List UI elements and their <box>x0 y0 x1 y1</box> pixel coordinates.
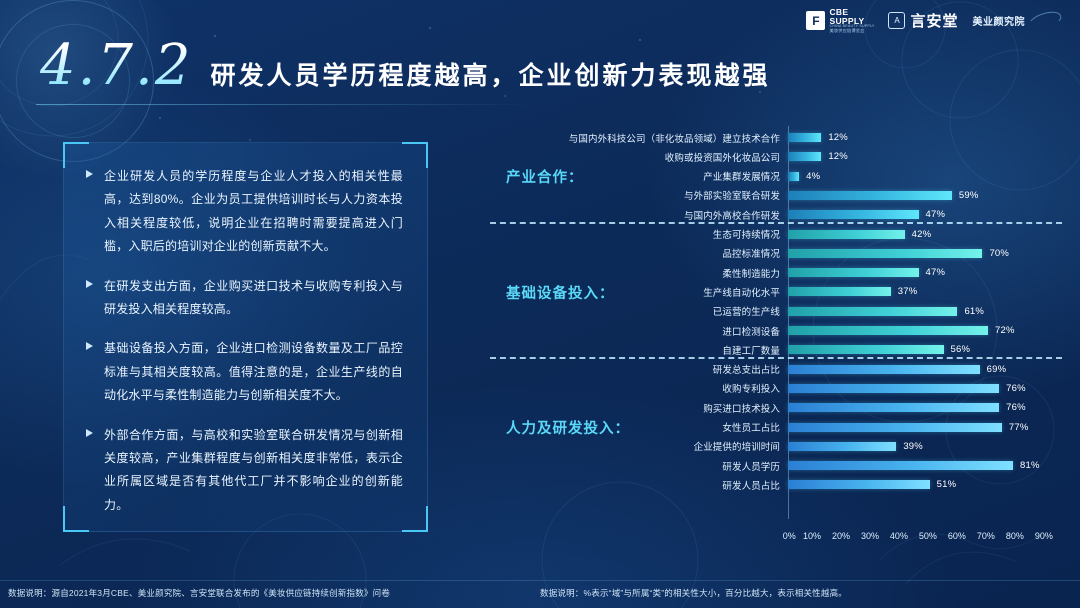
arrow-bullet-icon <box>86 170 93 178</box>
chart-bar-area: 72% <box>788 321 1070 340</box>
chart-x-axis-ticks: 0%10%20%30%40%50%60%70%80%90% <box>788 531 1070 541</box>
list-item: 外部合作方面，与高校和实验室联合研发情况与创新相关度较高，产业集群程度与创新相关… <box>86 424 403 518</box>
chart-bar <box>788 326 988 335</box>
cbe-mark-glyph: F <box>812 15 819 27</box>
chart-bar <box>788 133 821 142</box>
panel-corner-bottom-left <box>63 506 89 532</box>
meiye-institute-name: 美业颜究院 <box>973 13 1026 28</box>
arrow-bullet-icon <box>86 342 93 350</box>
chart-x-tick: 10% <box>803 531 821 541</box>
chart-bar <box>788 249 982 258</box>
chart-category-label: 品控标准情况 <box>470 246 788 260</box>
logo-yanantang: A 言安堂 <box>888 10 958 31</box>
chart-bar-value: 61% <box>964 306 984 317</box>
chart-category-label: 购买进口技术投入 <box>470 401 788 415</box>
logo-meiye-institute: 美业颜究院 <box>973 13 1063 29</box>
chart-row: 与国内外科技公司（非化妆品领域）建立技术合作12% <box>470 128 1070 147</box>
chart-bar-value: 12% <box>828 132 848 143</box>
logo-cbe-supply: F CBE SUPPLY CHINA BEAUTY SUPPLY 美妆供应链博览… <box>806 8 874 33</box>
bullet-text: 在研发支出方面，企业购买进口技术与收购专利投入与研发投入相关程度较高。 <box>104 279 403 316</box>
chart-group-label: 人力及研发投入： <box>506 417 630 438</box>
page-title: 4.7.2 研发人员学历程度越高，企业创新力表现越强 <box>40 38 771 94</box>
chart-bar <box>788 423 1002 432</box>
chart-bar-area: 12% <box>788 147 1070 166</box>
chart-category-label: 研发人员占比 <box>470 478 788 492</box>
chart-row: 柔性制造能力47% <box>470 263 1070 282</box>
chart-group-label: 产业合作： <box>506 166 584 187</box>
yanantang-mark-icon: A <box>888 12 905 29</box>
chart-bar-value: 59% <box>959 190 979 201</box>
chart-x-tick: 70% <box>977 531 995 541</box>
chart-bar-area: 39% <box>788 437 1070 456</box>
cbe-logo-line4: 美妆供应链博览会 <box>829 29 874 33</box>
bullet-text: 基础设备投入方面，企业进口检测设备数量及工厂品控标准与其相关度较高。值得注意的是… <box>104 341 403 402</box>
chart-group-label: 基础设备投入： <box>506 282 615 303</box>
correlation-bar-chart: 0%10%20%30%40%50%60%70%80%90% 与国内外科技公司（非… <box>470 126 1070 541</box>
chart-x-tick: 80% <box>1006 531 1024 541</box>
chart-category-label: 研发总支出占比 <box>470 362 788 376</box>
chart-x-tick: 0% <box>783 531 796 541</box>
chart-x-tick: 40% <box>890 531 908 541</box>
chart-category-label: 进口检测设备 <box>470 324 788 338</box>
chart-category-label: 与外部实验室联合研发 <box>470 188 788 202</box>
chart-bar-value: 77% <box>1009 422 1029 433</box>
chart-bar-value: 39% <box>903 441 923 452</box>
chart-category-label: 收购专利投入 <box>470 381 788 395</box>
chart-bar-area: 70% <box>788 244 1070 263</box>
chart-category-label: 研发人员学历 <box>470 459 788 473</box>
chart-bar-area: 47% <box>788 263 1070 282</box>
chart-row: 品控标准情况70% <box>470 244 1070 263</box>
chart-bar <box>788 345 944 354</box>
chart-category-label: 收购或投资国外化妆品公司 <box>470 150 788 164</box>
chart-bar-value: 47% <box>926 209 946 220</box>
chart-row: 收购或投资国外化妆品公司12% <box>470 147 1070 166</box>
section-number: 4.7.2 <box>40 38 193 94</box>
section-title-text: 研发人员学历程度越高，企业创新力表现越强 <box>211 64 771 89</box>
chart-bar <box>788 461 1013 470</box>
chart-row: 研发人员学历81% <box>470 456 1070 475</box>
chart-category-label: 企业提供的培训时间 <box>470 439 788 453</box>
chart-bar <box>788 210 919 219</box>
insights-panel: 企业研发人员的学历程度与企业人才投入的相关性最高，达到80%。企业为员工提供培训… <box>63 142 428 532</box>
footnote-right: 数据说明：%表示“域”与所属“类”的相关性大小，百分比越大，表示相关性越高。 <box>540 587 847 599</box>
chart-bar-area: 77% <box>788 418 1070 437</box>
chart-bar <box>788 172 799 181</box>
chart-row: 收购专利投入76% <box>470 379 1070 398</box>
chart-bar <box>788 403 999 412</box>
list-item: 在研发支出方面，企业购买进口技术与收购专利投入与研发投入相关程度较高。 <box>86 275 403 322</box>
chart-bar <box>788 152 821 161</box>
chart-bar-area: 59% <box>788 186 1070 205</box>
chart-bar-area: 61% <box>788 302 1070 321</box>
cbe-mark-icon: F <box>806 11 825 30</box>
chart-bar-value: 76% <box>1006 383 1026 394</box>
list-item: 企业研发人员的学历程度与企业人才投入的相关性最高，达到80%。企业为员工提供培训… <box>86 165 403 259</box>
chart-bar-area: 37% <box>788 282 1070 301</box>
chart-row: 进口检测设备72% <box>470 321 1070 340</box>
chart-bar-area: 42% <box>788 225 1070 244</box>
chart-bar-area: 12% <box>788 128 1070 147</box>
chart-category-label: 与国内外高校合作研发 <box>470 208 788 222</box>
chart-bar-value: 37% <box>898 286 918 297</box>
list-item: 基础设备投入方面，企业进口检测设备数量及工厂品控标准与其相关度较高。值得注意的是… <box>86 337 403 407</box>
chart-category-label: 柔性制造能力 <box>470 266 788 280</box>
chart-bar <box>788 287 891 296</box>
yanantang-mark-glyph: A <box>894 16 899 25</box>
chart-x-tick: 30% <box>861 531 879 541</box>
chart-row: 研发人员占比51% <box>470 475 1070 494</box>
chart-bar-value: 51% <box>937 479 957 490</box>
header-logos: F CBE SUPPLY CHINA BEAUTY SUPPLY 美妆供应链博览… <box>806 8 1062 33</box>
footer-divider <box>0 580 1080 581</box>
chart-bar-area: 69% <box>788 360 1070 379</box>
chart-row: 生态可持续情况42% <box>470 225 1070 244</box>
chart-row: 购买进口技术投入76% <box>470 398 1070 417</box>
chart-bar <box>788 230 905 239</box>
panel-corner-top-left <box>63 142 89 168</box>
chart-category-label: 自建工厂数量 <box>470 343 788 357</box>
chart-bar-value: 76% <box>1006 402 1026 413</box>
chart-bar-value: 12% <box>828 151 848 162</box>
chart-bar <box>788 480 930 489</box>
chart-bar-value: 70% <box>989 248 1009 259</box>
title-divider <box>36 104 536 105</box>
panel-corner-top-right <box>402 142 428 168</box>
chart-category-label: 与国内外科技公司（非化妆品领域）建立技术合作 <box>470 131 788 145</box>
chart-x-tick: 50% <box>919 531 937 541</box>
chart-bar-value: 47% <box>926 267 946 278</box>
chart-bar <box>788 268 919 277</box>
chart-bar <box>788 442 896 451</box>
panel-corner-bottom-right <box>402 506 428 532</box>
swoosh-icon <box>1026 8 1063 34</box>
chart-bar-value: 4% <box>806 171 820 182</box>
chart-x-tick: 60% <box>948 531 966 541</box>
chart-row: 与外部实验室联合研发59% <box>470 186 1070 205</box>
chart-bar-value: 56% <box>951 344 971 355</box>
bullet-text: 企业研发人员的学历程度与企业人才投入的相关性最高，达到80%。企业为员工提供培训… <box>104 169 403 253</box>
arrow-bullet-icon <box>86 429 93 437</box>
chart-bar <box>788 384 999 393</box>
chart-bar-value: 69% <box>987 364 1007 375</box>
footnote-left: 数据说明：源自2021年3月CBE、美业颜究院、言安堂联合发布的《美妆供应链持续… <box>8 587 390 599</box>
chart-category-label: 生态可持续情况 <box>470 227 788 241</box>
chart-row: 已运营的生产线61% <box>470 302 1070 321</box>
chart-bar <box>788 307 957 316</box>
chart-bar-area: 76% <box>788 398 1070 417</box>
chart-bar <box>788 365 980 374</box>
chart-bar-area: 51% <box>788 475 1070 494</box>
insights-bullet-list: 企业研发人员的学历程度与企业人才投入的相关性最高，达到80%。企业为员工提供培训… <box>86 165 403 517</box>
chart-bar-value: 72% <box>995 325 1015 336</box>
chart-x-tick: 20% <box>832 531 850 541</box>
chart-bar-area: 4% <box>788 167 1070 186</box>
chart-category-label: 已运营的生产线 <box>470 304 788 318</box>
chart-bar-area: 76% <box>788 379 1070 398</box>
chart-row: 企业提供的培训时间39% <box>470 437 1070 456</box>
chart-bar-value: 42% <box>912 229 932 240</box>
chart-x-tick: 90% <box>1035 531 1053 541</box>
chart-bar-area: 81% <box>788 456 1070 475</box>
chart-bar-value: 81% <box>1020 460 1040 471</box>
arrow-bullet-icon <box>86 280 93 288</box>
chart-row: 研发总支出占比69% <box>470 360 1070 379</box>
yanantang-logo-name: 言安堂 <box>910 10 958 31</box>
bullet-text: 外部合作方面，与高校和实验室联合研发情况与创新相关度较高，产业集群程度与创新相关… <box>104 428 403 512</box>
chart-bar <box>788 191 952 200</box>
